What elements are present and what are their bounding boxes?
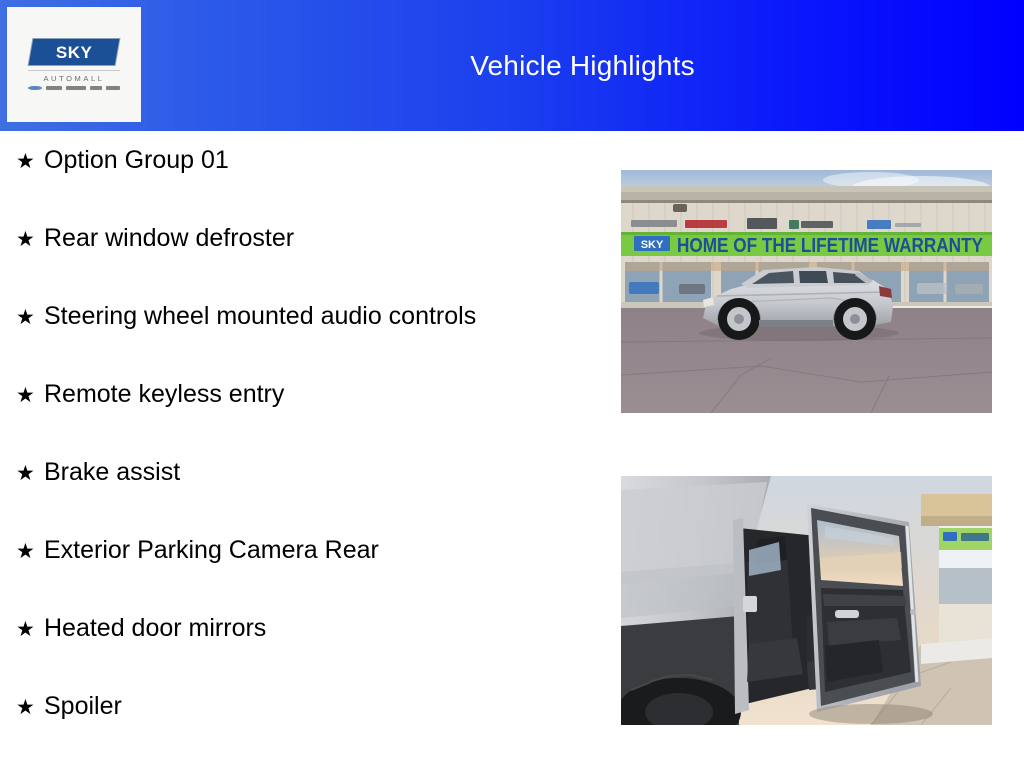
list-item: ★ Heated door mirrors: [10, 616, 610, 694]
dodge-mark-icon: [66, 86, 86, 90]
star-icon: ★: [10, 307, 44, 328]
list-item-label: Remote keyless entry: [44, 382, 284, 407]
sky-badge-label: SKY: [56, 44, 92, 61]
list-item-label: Exterior Parking Camera Rear: [44, 538, 379, 563]
list-item: ★ Brake assist: [10, 460, 610, 538]
star-icon: ★: [10, 697, 44, 718]
list-item: ★ Steering wheel mounted audio controls: [10, 304, 610, 382]
vehicle-exterior-side-photo: SKY HOME OF THE LIFETIME WARRANTY: [621, 170, 992, 413]
sky-badge: SKY: [29, 39, 120, 65]
list-item: ★ Spoiler: [10, 694, 610, 772]
ford-mark-icon: [28, 86, 42, 90]
list-item-label: Steering wheel mounted audio controls: [44, 304, 476, 329]
automall-label: AUTOMALL: [28, 70, 120, 83]
vehicle-highlights-list: ★ Option Group 01 ★ Rear window defroste…: [10, 148, 610, 772]
oem-brand-marks: [28, 86, 120, 90]
ram-mark-icon: [106, 86, 120, 90]
svg-text:HOME OF THE LIFETIME WARRANTY: HOME OF THE LIFETIME WARRANTY: [677, 235, 984, 257]
star-icon: ★: [10, 619, 44, 640]
star-icon: ★: [10, 385, 44, 406]
star-icon: ★: [10, 151, 44, 172]
dealer-logo-inner: SKY AUTOMALL: [22, 39, 126, 90]
star-icon: ★: [10, 463, 44, 484]
star-icon: ★: [10, 229, 44, 250]
list-item-label: Brake assist: [44, 460, 180, 485]
list-item-label: Heated door mirrors: [44, 616, 266, 641]
list-item: ★ Remote keyless entry: [10, 382, 610, 460]
star-icon: ★: [10, 541, 44, 562]
jeep-mark-icon: [90, 86, 102, 90]
list-item-label: Spoiler: [44, 694, 122, 719]
page-title: Vehicle Highlights: [141, 0, 1024, 131]
list-item-label: Option Group 01: [44, 148, 229, 173]
list-item-label: Rear window defroster: [44, 226, 294, 251]
vehicle-interior-rear-door-photo: [621, 476, 992, 725]
dealer-logo: SKY AUTOMALL: [7, 7, 141, 122]
svg-text:SKY: SKY: [641, 239, 664, 251]
list-item: ★ Option Group 01: [10, 148, 610, 226]
list-item: ★ Exterior Parking Camera Rear: [10, 538, 610, 616]
list-item: ★ Rear window defroster: [10, 226, 610, 304]
page-header: Vehicle Highlights: [0, 0, 1024, 131]
chrysler-mark-icon: [46, 86, 62, 90]
